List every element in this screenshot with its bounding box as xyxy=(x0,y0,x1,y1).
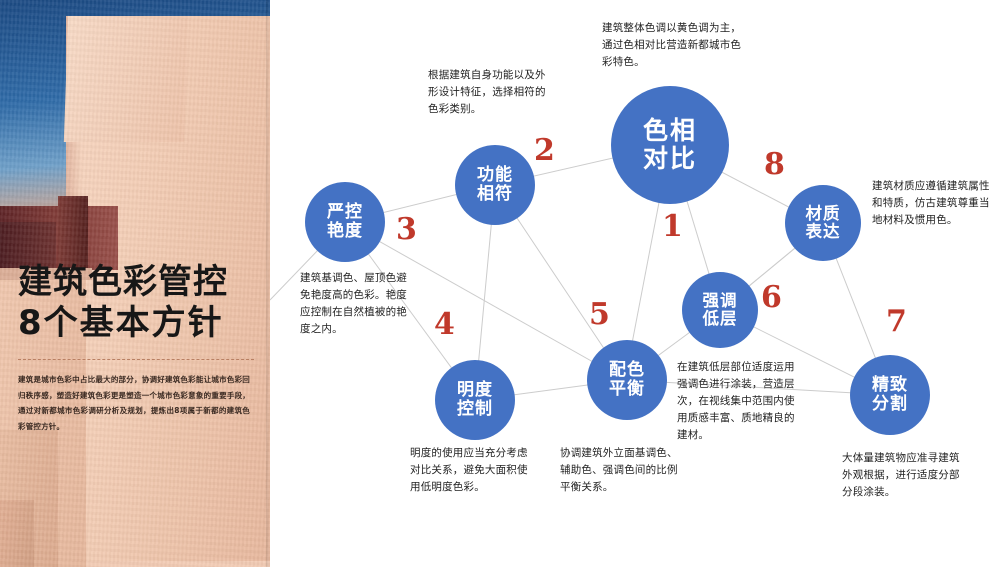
poster-divider xyxy=(18,359,254,360)
node-material-expression-label-1: 材质 xyxy=(806,205,841,223)
node-fine-division-label-2: 分割 xyxy=(872,395,908,414)
node-material-expression-label-2: 表达 xyxy=(806,223,841,241)
node-color-balance-label-2: 平衡 xyxy=(609,380,645,399)
node-material-expression[interactable]: 材质 表达 xyxy=(785,185,861,261)
number-8: 8 xyxy=(764,150,785,180)
node-fine-division[interactable]: 精致 分割 xyxy=(850,355,930,435)
node-hue-contrast-label-1: 色相 xyxy=(643,117,697,145)
node-brightness-control-label-1: 明度 xyxy=(457,381,493,400)
number-7: 7 xyxy=(886,307,907,337)
number-3: 3 xyxy=(396,215,417,245)
note-fine-division: 大体量建筑物应准寻建筑外观根据，进行适度分部分段涂装。 xyxy=(842,450,968,501)
note-hue-contrast: 建筑整体色调以黄色调为主，通过色相对比营造新都城市色彩特色。 xyxy=(602,20,747,71)
poster-text-block: 建筑色彩管控 8个基本方针 建筑是城市色彩中占比最大的部分，协调好建筑色彩能让城… xyxy=(18,262,262,435)
note-saturation-control: 建筑基调色、屋顶色避免艳度高的色彩。艳度应控制在自然植被的艳度之内。 xyxy=(300,270,415,338)
node-color-balance[interactable]: 配色 平衡 xyxy=(587,340,667,420)
number-1: 1 xyxy=(662,212,683,242)
node-saturation-control[interactable]: 严控 艳度 xyxy=(305,182,385,262)
poster-panel: 建筑色彩管控 8个基本方针 建筑是城市色彩中占比最大的部分，协调好建筑色彩能让城… xyxy=(0,0,270,567)
number-4: 4 xyxy=(434,310,455,340)
node-emphasize-base[interactable]: 强调 低层 xyxy=(682,272,758,348)
poster-title-line-1: 建筑色彩管控 xyxy=(18,262,262,303)
node-emphasize-base-label-1: 强调 xyxy=(703,292,738,310)
node-saturation-control-label-1: 严控 xyxy=(327,203,363,222)
number-2: 2 xyxy=(534,136,555,166)
note-emphasize-base: 在建筑低层部位适度运用强调色进行涂装，营造层次，在视线集中范围内使用质感丰富、质… xyxy=(677,359,801,444)
note-material-expression: 建筑材质应遵循建筑属性和特质，仿古建筑尊重当地材料及惯用色。 xyxy=(872,178,990,229)
node-brightness-control-label-2: 控制 xyxy=(457,400,493,419)
note-color-balance: 协调建筑外立面基调色、辅助色、强调色间的比例平衡关系。 xyxy=(560,445,686,496)
note-function-match: 根据建筑自身功能以及外形设计特征，选择相符的色彩类别。 xyxy=(428,67,554,118)
node-color-balance-label-1: 配色 xyxy=(609,361,645,380)
infographic-canvas: 建筑色彩管控 8个基本方针 建筑是城市色彩中占比最大的部分，协调好建筑色彩能让城… xyxy=(0,0,1000,567)
number-6: 6 xyxy=(761,283,782,313)
note-brightness-control: 明度的使用应当充分考虑对比关系，避免大面积使用低明度色彩。 xyxy=(410,445,536,496)
number-5: 5 xyxy=(589,300,610,330)
node-brightness-control[interactable]: 明度 控制 xyxy=(435,360,515,440)
node-hue-contrast[interactable]: 色相 对比 xyxy=(611,86,729,204)
poster-title: 建筑色彩管控 8个基本方针 xyxy=(18,262,262,345)
poster-body-text: 建筑是城市色彩中占比最大的部分，协调好建筑色彩能让城市色彩回归秩序感，塑造好建筑… xyxy=(18,372,250,435)
node-emphasize-base-label-2: 低层 xyxy=(703,310,738,328)
node-hue-contrast-label-2: 对比 xyxy=(643,145,697,173)
node-function-match-label-1: 功能 xyxy=(477,166,513,185)
node-function-match-label-2: 相符 xyxy=(477,185,513,204)
node-fine-division-label-1: 精致 xyxy=(872,376,908,395)
poster-title-line-2: 8个基本方针 xyxy=(18,303,262,344)
node-saturation-control-label-2: 艳度 xyxy=(327,222,363,241)
node-function-match[interactable]: 功能 相符 xyxy=(455,145,535,225)
